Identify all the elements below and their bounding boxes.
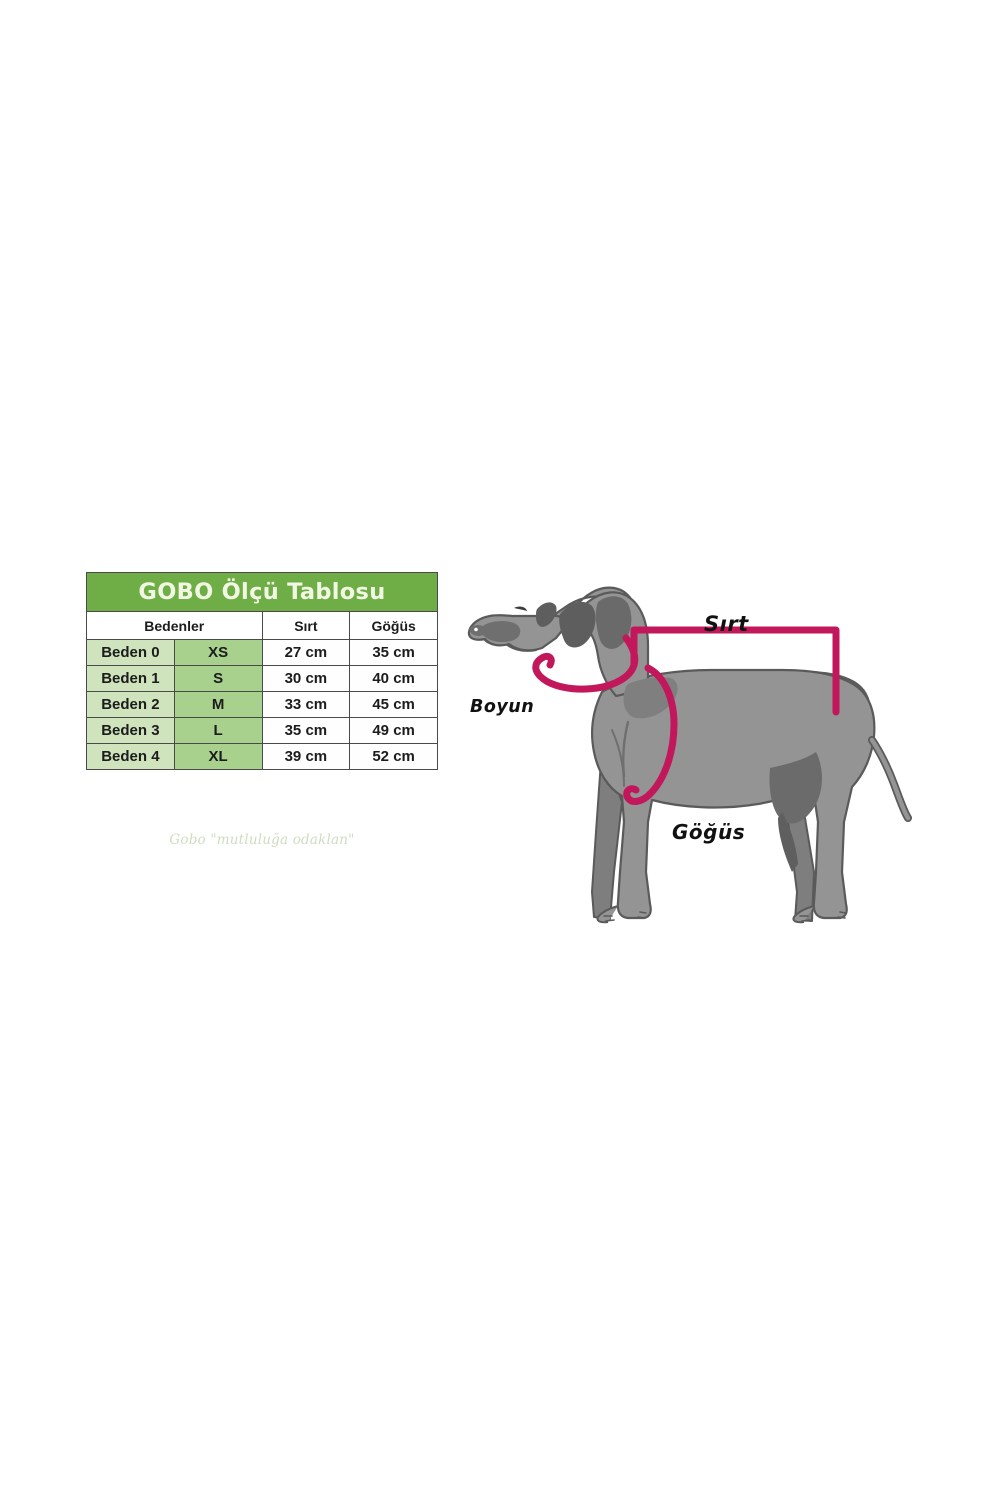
cell-beden: Beden 4: [87, 744, 175, 770]
cell-sirt: 30 cm: [262, 666, 350, 692]
cell-sirt: 35 cm: [262, 718, 350, 744]
table-column-header-row: Bedenler Sırt Göğüs: [87, 612, 438, 640]
table-title: GOBO Ölçü Tablosu: [87, 573, 437, 611]
cell-sirt: 33 cm: [262, 692, 350, 718]
column-header-sirt: Sırt: [262, 612, 350, 640]
table-row: Beden 0 XS 27 cm 35 cm: [87, 640, 438, 666]
table-row: Beden 1 S 30 cm 40 cm: [87, 666, 438, 692]
table-title-row: GOBO Ölçü Tablosu: [87, 573, 438, 612]
table-body: Beden 0 XS 27 cm 35 cm Beden 1 S 30 cm 4…: [87, 640, 438, 770]
label-boyun: Boyun: [470, 697, 534, 717]
cell-size: XS: [174, 640, 262, 666]
cell-beden: Beden 3: [87, 718, 175, 744]
cell-beden: Beden 0: [87, 640, 175, 666]
cell-gogus: 52 cm: [350, 744, 438, 770]
table-row: Beden 2 M 33 cm 45 cm: [87, 692, 438, 718]
dog-measurement-diagram: [452, 572, 932, 972]
cell-gogus: 40 cm: [350, 666, 438, 692]
brand-tagline: Gobo "mutluluğa odaklan": [86, 832, 438, 848]
cell-size: XL: [174, 744, 262, 770]
cell-gogus: 49 cm: [350, 718, 438, 744]
size-chart-table: GOBO Ölçü Tablosu Bedenler Sırt Göğüs Be…: [86, 572, 438, 770]
label-gogus: Göğüs: [672, 820, 745, 844]
cell-size: M: [174, 692, 262, 718]
cell-beden: Beden 1: [87, 666, 175, 692]
dog-eye: [514, 607, 527, 611]
column-header-bedenler: Bedenler: [87, 612, 263, 640]
table-row: Beden 3 L 35 cm 49 cm: [87, 718, 438, 744]
label-sirt: Sırt: [704, 612, 749, 636]
cell-gogus: 35 cm: [350, 640, 438, 666]
cell-size: L: [174, 718, 262, 744]
column-header-gogus: Göğüs: [350, 612, 438, 640]
cell-beden: Beden 2: [87, 692, 175, 718]
table-title-cell: GOBO Ölçü Tablosu: [87, 573, 438, 612]
table-row: Beden 4 XL 39 cm 52 cm: [87, 744, 438, 770]
dog-nostril: [474, 628, 478, 632]
size-chart-table-container: GOBO Ölçü Tablosu Bedenler Sırt Göğüs Be…: [86, 572, 438, 770]
cell-size: S: [174, 666, 262, 692]
dog-tail-fill: [872, 740, 908, 818]
cell-sirt: 39 cm: [262, 744, 350, 770]
cell-sirt: 27 cm: [262, 640, 350, 666]
cell-gogus: 45 cm: [350, 692, 438, 718]
dog-illustration-graphic: [469, 588, 908, 923]
page-canvas: GOBO Ölçü Tablosu Bedenler Sırt Göğüs Be…: [0, 0, 1000, 1500]
